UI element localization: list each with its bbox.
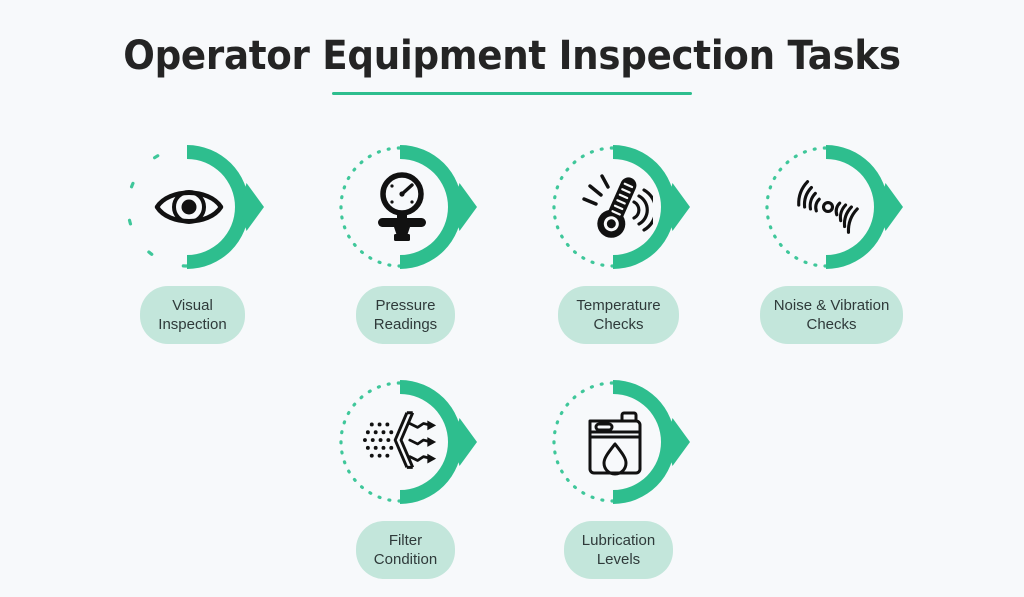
task-item-visual-inspection[interactable]: Visual Inspection	[86, 138, 299, 344]
task-item-filter-condition[interactable]: Filter Condition	[299, 373, 512, 579]
task-label-noise-vibration-checks: Noise & Vibration Checks	[760, 286, 904, 344]
task-row-1: Visual Inspection	[0, 138, 1024, 344]
badge-visual-inspection	[118, 138, 268, 276]
thermometer-icon	[576, 168, 654, 246]
pressure-gauge-icon	[363, 168, 441, 246]
badge-noise-vibration-checks	[757, 138, 907, 276]
infographic-page: Operator Equipment Inspection Tasks	[0, 0, 1024, 597]
page-title: Operator Equipment Inspection Tasks	[36, 34, 988, 78]
badge-temperature-checks	[544, 138, 694, 276]
title-block: Operator Equipment Inspection Tasks	[0, 34, 1024, 95]
oil-canister-icon	[576, 403, 654, 481]
task-item-temperature-checks[interactable]: Temperature Checks	[512, 138, 725, 344]
badge-pressure-readings	[331, 138, 481, 276]
task-row-2: Filter Condition	[0, 373, 1024, 579]
task-label-filter-condition: Filter Condition	[356, 521, 455, 579]
task-label-lubrication-levels: Lubrication Levels	[564, 521, 673, 579]
task-item-pressure-readings[interactable]: Pressure Readings	[299, 138, 512, 344]
task-label-visual-inspection: Visual Inspection	[140, 286, 244, 344]
task-item-lubrication-levels[interactable]: Lubrication Levels	[512, 373, 725, 579]
eye-icon	[150, 168, 228, 246]
badge-lubrication-levels	[544, 373, 694, 511]
air-filter-icon	[363, 403, 441, 481]
vibration-waves-icon	[789, 168, 867, 246]
badge-filter-condition	[331, 373, 481, 511]
task-label-temperature-checks: Temperature Checks	[558, 286, 678, 344]
task-label-pressure-readings: Pressure Readings	[356, 286, 455, 344]
title-underline	[332, 92, 692, 95]
task-item-noise-vibration-checks[interactable]: Noise & Vibration Checks	[725, 138, 938, 344]
